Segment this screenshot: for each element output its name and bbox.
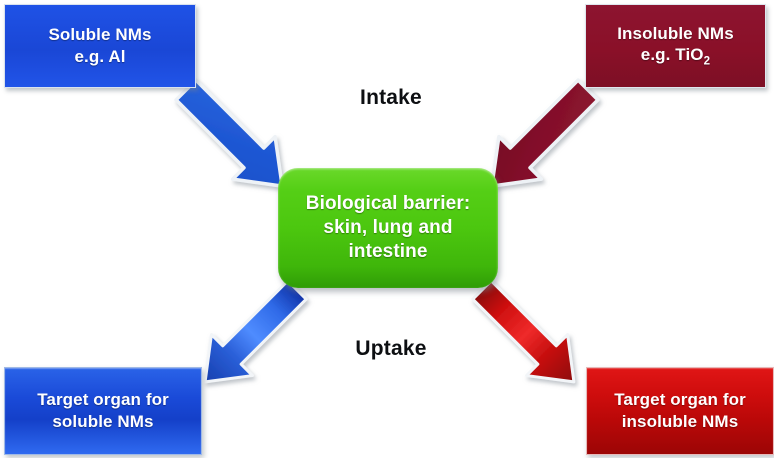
node-target-organ-soluble: Target organ for soluble NMs [4, 367, 202, 455]
tio2-subscript: 2 [704, 56, 711, 68]
node-target-organ-soluble-label: Target organ for soluble NMs [31, 389, 175, 433]
diagram-canvas: Soluble NMs e.g. Al Insoluble NMs e.g. T… [0, 0, 774, 458]
node-target-organ-insoluble: Target organ for insoluble NMs [586, 367, 774, 455]
arrow-barrier-to-target-insoluble [461, 269, 594, 402]
node-biological-barrier: Biological barrier: skin, lung and intes… [278, 168, 498, 288]
node-soluble-nms: Soluble NMs e.g. Al [4, 4, 196, 88]
node-target-organ-insoluble-label: Target organ for insoluble NMs [608, 389, 752, 433]
caption-uptake: Uptake [306, 337, 476, 361]
node-insoluble-nms-label: Insoluble NMs e.g. TiO2 [611, 23, 740, 70]
node-insoluble-nms: Insoluble NMs e.g. TiO2 [585, 4, 766, 88]
node-biological-barrier-label: Biological barrier: skin, lung and intes… [300, 192, 477, 265]
node-soluble-nms-label: Soluble NMs e.g. Al [42, 24, 157, 68]
caption-intake: Intake [306, 86, 476, 110]
arrow-barrier-to-target-soluble [185, 269, 318, 402]
